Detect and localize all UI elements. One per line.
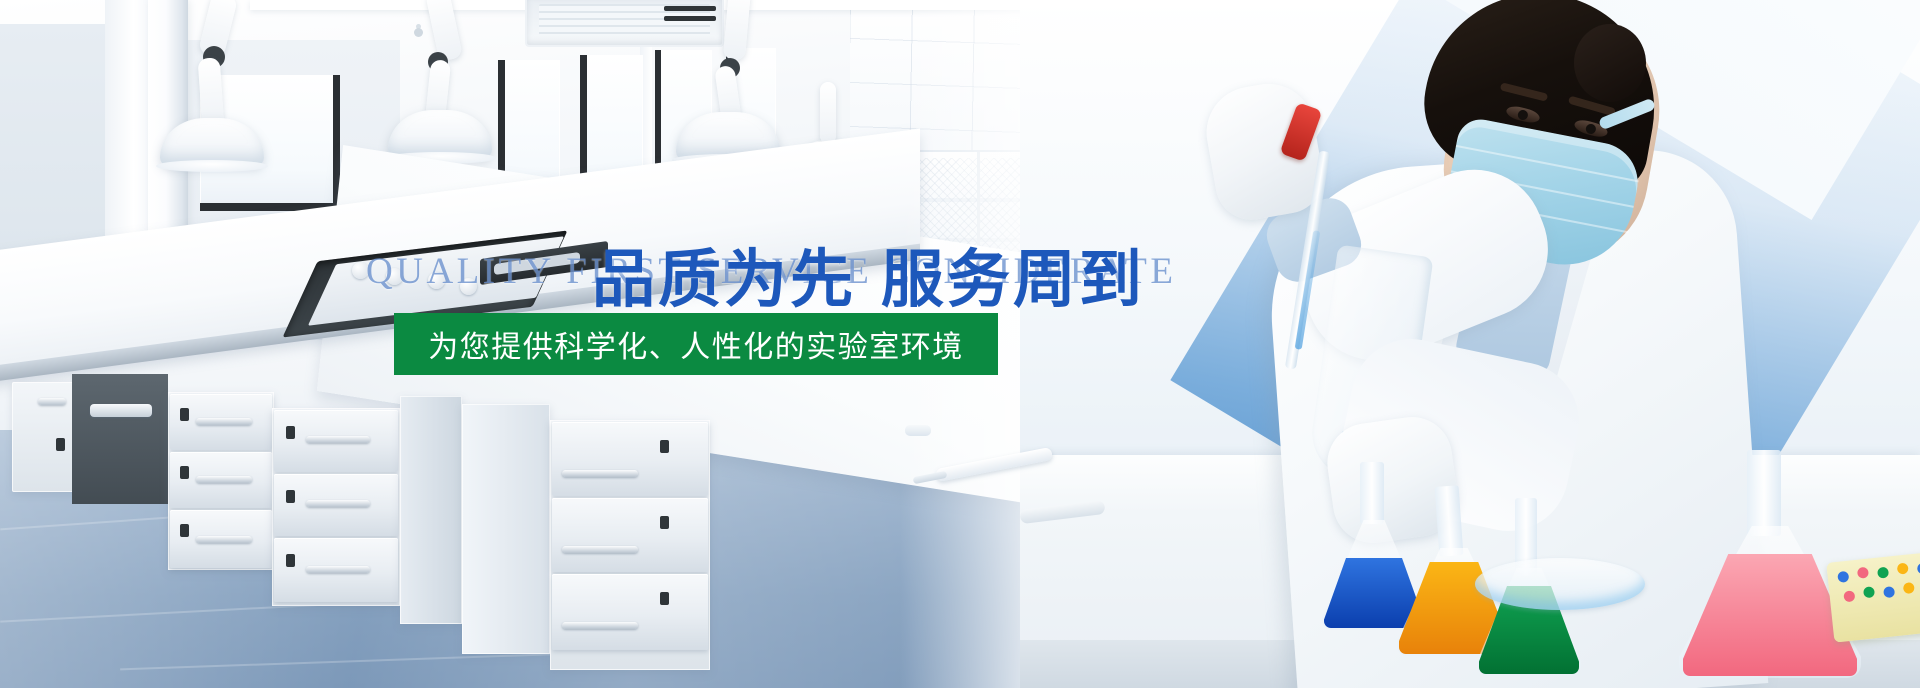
subtitle-green-bar: 为您提供科学化、人性化的实验室环境 — [394, 313, 998, 375]
subtitle-chinese: 为您提供科学化、人性化的实验室环境 — [428, 322, 964, 366]
headline-chinese: 品质为先 服务周到 — [592, 248, 1145, 311]
hero-banner: QUALITY FIRST SERVICE CONSIDERATE 品质为先 服… — [0, 0, 1920, 688]
text-overlay: QUALITY FIRST SERVICE CONSIDERATE 品质为先 服… — [0, 0, 1920, 688]
